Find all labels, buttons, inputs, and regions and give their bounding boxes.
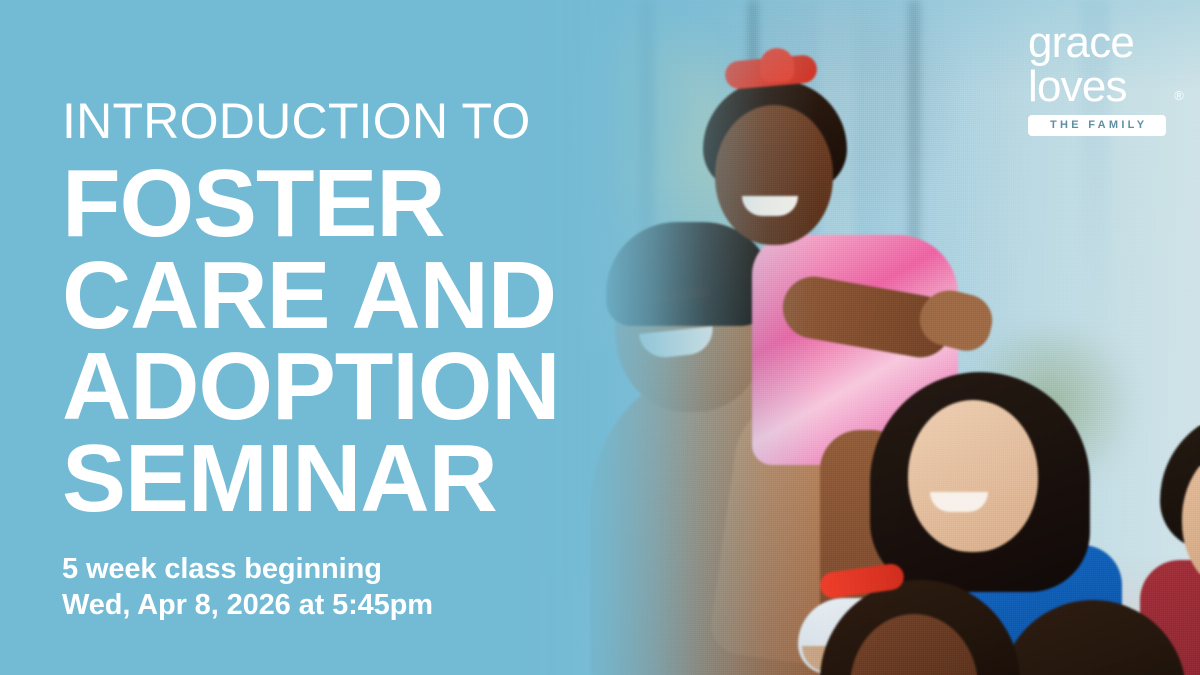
brand-logo: grace loves® THE FAMILY (1028, 24, 1170, 136)
registered-trademark-icon: ® (1174, 89, 1183, 102)
headline-block: INTRODUCTION TO FOSTER CARE AND ADOPTION… (62, 96, 682, 624)
event-details: 5 week class beginning Wed, Apr 8, 2026 … (62, 551, 682, 624)
logo-tagline-badge: THE FAMILY (1028, 115, 1166, 136)
eyebrow-text: INTRODUCTION TO (62, 96, 682, 146)
event-duration: 5 week class beginning (62, 551, 682, 588)
headline-line-4: SEMINAR (62, 433, 682, 525)
headline-line-1: FOSTER (62, 158, 682, 250)
poster-canvas: INTRODUCTION TO FOSTER CARE AND ADOPTION… (0, 0, 1200, 675)
logo-tagline-text: THE FAMILY (1047, 119, 1148, 131)
event-datetime: Wed, Apr 8, 2026 at 5:45pm (62, 587, 682, 624)
logo-word-loves-text: loves (1028, 62, 1127, 111)
page-title: FOSTER CARE AND ADOPTION SEMINAR (62, 158, 682, 525)
logo-word-loves: loves® (1028, 68, 1170, 106)
headline-line-2: CARE AND (62, 250, 682, 342)
headline-line-3: ADOPTION (62, 341, 682, 433)
logo-word-grace: grace (1028, 24, 1170, 62)
